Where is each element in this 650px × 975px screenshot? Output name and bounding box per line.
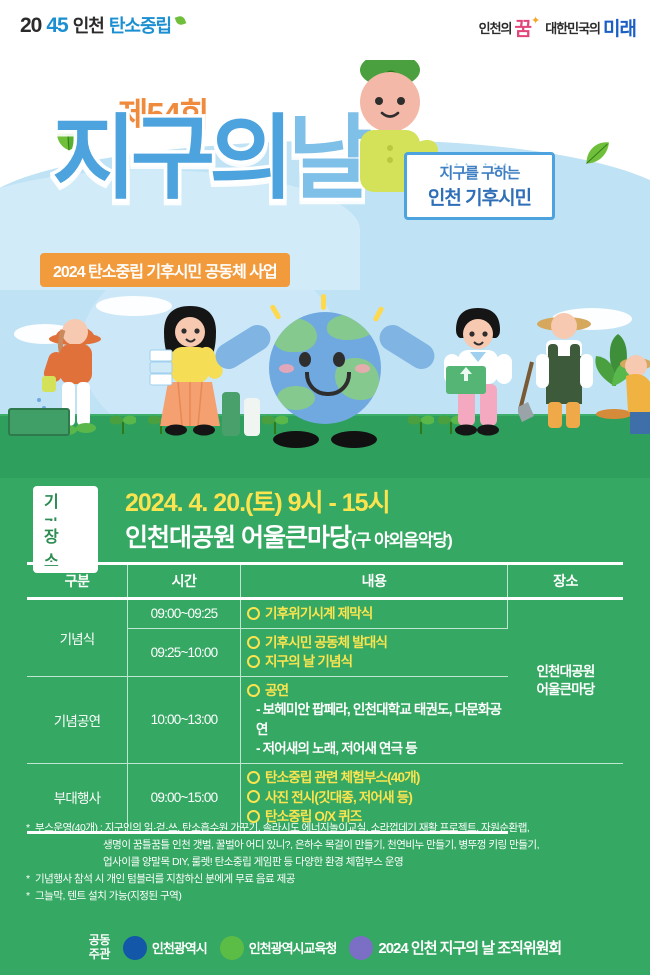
incheon-dream-slogan-logo: 인천의 꿈 ✦ 대한민국의 미래 bbox=[479, 14, 636, 41]
footnote-line: 기념행사 참석 시 개인 텀블러를 지참하신 분에게 무료 음료 제공 bbox=[35, 871, 632, 888]
organizer-name: 인천광역시 bbox=[152, 938, 207, 957]
organizer-incheon-education: 인천광역시교육청 bbox=[220, 936, 337, 960]
poster-root: 2045 인천 탄소중립 인천의 꿈 ✦ 대한민국의 미래 제54회 bbox=[0, 0, 650, 975]
col-header-place: 장소 bbox=[508, 564, 624, 599]
footnotes: * 부스운영(40개) : 지구인의 읽·걷·쓰, 탄소흡수원 가꾸기, 솔라시… bbox=[26, 820, 632, 905]
sparkle-icon bbox=[321, 294, 326, 310]
event-title: 지구의날 bbox=[52, 116, 367, 203]
organizer-name: 인천광역시교육청 bbox=[249, 938, 337, 957]
place-note: (구 야외음악당) bbox=[351, 531, 452, 550]
event-title-line1: 지구의 bbox=[52, 108, 288, 210]
logo-year-blue: 45 bbox=[46, 14, 67, 38]
content-item: 기후위기시계 제막식 bbox=[247, 604, 501, 624]
content-item: 지구의 날 기념식 bbox=[247, 652, 502, 672]
asterisk-icon: * bbox=[26, 871, 35, 888]
content-item: 공연 bbox=[247, 681, 502, 701]
leaf-icon bbox=[582, 138, 612, 168]
sparkle-icon bbox=[269, 304, 281, 320]
asterisk-icon: * bbox=[26, 820, 35, 871]
cell-time: 09:25~10:00 bbox=[128, 628, 241, 676]
leaf-icon bbox=[175, 15, 187, 27]
table-row: 기념식 09:00~09:25 기후위기시계 제막식 인천대공원 어울큰마당 bbox=[27, 599, 623, 629]
footnote-line: 생명이 꿈틀꿈틀 인천 갯벌, 꿀벌아 어디 있니?, 은하수 목걸이 만들기,… bbox=[35, 837, 632, 854]
person-with-recycle-box-illustration bbox=[428, 304, 524, 440]
organizer-label-line2: 주관 bbox=[89, 948, 110, 962]
content-subitem: - 저어새의 노래, 저어새 연극 등 bbox=[247, 739, 502, 759]
earth-eye bbox=[299, 352, 311, 367]
content-item-text: 지구의 날 기념식 bbox=[265, 654, 352, 669]
continent-shape bbox=[273, 318, 317, 352]
continent-shape bbox=[277, 386, 315, 410]
earth-character bbox=[255, 306, 395, 448]
top-logo-bar: 2045 인천 탄소중립 인천의 꿈 ✦ 대한민국의 미래 bbox=[0, 0, 650, 60]
incheon-education-logo-icon bbox=[220, 936, 244, 960]
sign-dots-decoration: ••• ••• bbox=[407, 160, 552, 169]
illustration-scene bbox=[0, 290, 650, 478]
sign-line-2: 인천 기후시민 bbox=[428, 183, 531, 210]
circle-bullet-icon bbox=[247, 684, 260, 697]
organizer-name: 2024 인천 지구의 날 조직위원회 bbox=[378, 937, 561, 958]
footnote-item: * 기념행사 참석 시 개인 텀블러를 지참하신 분에게 무료 음료 제공 bbox=[26, 871, 632, 888]
logo-city-label: 인천 bbox=[73, 12, 104, 38]
cell-place: 인천대공원 어울큰마당 bbox=[508, 599, 624, 764]
person-planting-illustration bbox=[574, 330, 650, 440]
content-item: 사진 전시(깃대종, 저어새 등) bbox=[247, 788, 502, 808]
footnote-body: 부스운영(40개) : 지구인의 읽·걷·쓰, 탄소흡수원 가꾸기, 솔라시도 … bbox=[35, 820, 632, 871]
earth-cheek bbox=[279, 364, 294, 373]
content-item-text: 사진 전시(깃대종, 저어새 등) bbox=[265, 790, 412, 805]
tumbler-bottle bbox=[222, 392, 240, 436]
col-header-gubun: 구분 bbox=[27, 564, 128, 599]
place-main: 인천대공원 어울큰마당 bbox=[125, 524, 351, 552]
table-header-row: 구분 시간 내용 장소 bbox=[27, 564, 623, 599]
place-line-2: 어울큰마당 bbox=[536, 682, 594, 697]
circle-bullet-icon bbox=[247, 771, 260, 784]
asterisk-icon: * bbox=[26, 888, 35, 905]
cell-content: 기후시민 공동체 발대식 지구의 날 기념식 bbox=[241, 628, 508, 676]
cell-time: 10:00~13:00 bbox=[128, 676, 241, 763]
planter-box bbox=[8, 408, 70, 436]
incheon-city-logo-icon bbox=[123, 936, 147, 960]
cell-content: 공연 - 보헤미안 팝페라, 인천대학교 태권도, 다문화공연 - 저어새의 노… bbox=[241, 676, 508, 763]
organizer-label: 공동 주관 bbox=[89, 934, 110, 962]
content-subitem: - 보헤미안 팝페라, 인천대학교 태권도, 다문화공연 bbox=[247, 700, 502, 739]
period-value: 2024. 4. 20.(토) 9시 - 15시 bbox=[125, 483, 390, 519]
content-item: 탄소중립 관련 체험부스(40개) bbox=[247, 768, 502, 788]
content-item-text: 기후시민 공동체 발대식 bbox=[265, 635, 387, 650]
organizer-committee: 2024 인천 지구의 날 조직위원회 bbox=[349, 936, 561, 960]
logo-year-dark: 20 bbox=[20, 14, 41, 38]
logo-carbon-label: 탄소중립 bbox=[109, 12, 171, 38]
cell-gubun: 기념식 bbox=[27, 599, 128, 677]
cell-gubun: 기념공연 bbox=[27, 676, 128, 763]
cell-content: 기후위기시계 제막식 bbox=[241, 599, 508, 629]
continent-shape bbox=[327, 314, 377, 340]
event-info-band: 기간 2024. 4. 20.(토) 9시 - 15시 장소 인천대공원 어울큰… bbox=[0, 478, 650, 556]
slogan-part-2: 꿈 bbox=[515, 14, 531, 41]
earth-foot bbox=[331, 431, 377, 448]
held-sign: ••• ••• 지구를 구하는 인천 기후시민 bbox=[404, 152, 555, 220]
footer-organizers: 공동 주관 인천광역시 인천광역시교육청 2024 인천 지구의 날 조직위원회 bbox=[0, 920, 650, 975]
circle-bullet-icon bbox=[247, 636, 260, 649]
footnote-item: * 그늘막, 텐트 설치 가능(지정된 구역) bbox=[26, 888, 632, 905]
footnote-line: 업사이클 양말목 DIY, 룰렛! 탄소중립 게임판 등 다양한 환경 체험부스… bbox=[35, 854, 632, 871]
place-value: 인천대공원 어울큰마당(구 야외음악당) bbox=[125, 518, 452, 554]
slogan-part-4: 미래 bbox=[603, 14, 636, 41]
footnote-item: * 부스운영(40개) : 지구인의 읽·걷·쓰, 탄소흡수원 가꾸기, 솔라시… bbox=[26, 820, 632, 871]
circle-bullet-icon bbox=[247, 607, 260, 620]
organizer-label-line1: 공동 bbox=[89, 934, 110, 948]
schedule-table-body: 기념식 09:00~09:25 기후위기시계 제막식 인천대공원 어울큰마당 0… bbox=[27, 599, 623, 833]
content-item: 기후시민 공동체 발대식 bbox=[247, 633, 502, 653]
cell-time: 09:00~09:25 bbox=[128, 599, 241, 629]
schedule-table-head: 구분 시간 내용 장소 bbox=[27, 564, 623, 599]
col-header-content: 내용 bbox=[241, 564, 508, 599]
organizer-incheon-city: 인천광역시 bbox=[123, 936, 207, 960]
place-line-1: 인천대공원 bbox=[536, 664, 594, 679]
content-item-text: 공연 bbox=[265, 683, 288, 698]
footnote-line: 그늘막, 텐트 설치 가능(지정된 구역) bbox=[35, 888, 632, 905]
circle-bullet-icon bbox=[247, 790, 260, 803]
col-header-time: 시간 bbox=[128, 564, 241, 599]
slogan-part-3: 대한민국의 bbox=[545, 18, 600, 37]
organizing-committee-logo-icon bbox=[349, 936, 373, 960]
sub-banner: 2024 탄소중립 기후시민 공동체 사업 bbox=[40, 253, 290, 287]
content-item-text: 탄소중립 관련 체험부스(40개) bbox=[265, 770, 420, 785]
content-item-text: 기후위기시계 제막식 bbox=[265, 606, 373, 621]
carbon-neutral-2045-logo: 2045 인천 탄소중립 bbox=[20, 12, 185, 38]
earth-foot bbox=[273, 431, 319, 448]
schedule-table-wrapper: 구분 시간 내용 장소 기념식 09:00~09:25 기후위기시계 제막식 인… bbox=[27, 562, 623, 834]
earth-cheek bbox=[355, 364, 370, 373]
circle-bullet-icon bbox=[247, 655, 260, 668]
star-icon: ✦ bbox=[531, 14, 539, 27]
slogan-part-1: 인천의 bbox=[479, 18, 512, 37]
earth-eye bbox=[333, 352, 345, 367]
schedule-table: 구분 시간 내용 장소 기념식 09:00~09:25 기후위기시계 제막식 인… bbox=[27, 562, 623, 834]
footnote-line: 부스운영(40개) : 지구인의 읽·걷·쓰, 탄소흡수원 가꾸기, 솔라시도 … bbox=[35, 822, 529, 834]
